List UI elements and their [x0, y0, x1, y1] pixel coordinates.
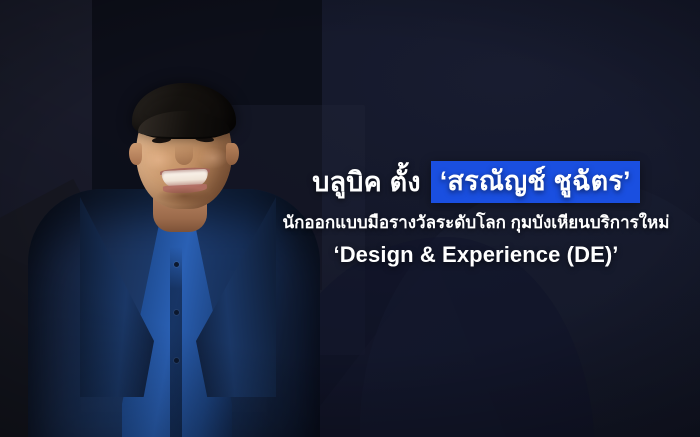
headline-line-1-prefix: บลูบิค ตั้ง — [312, 160, 421, 204]
headline-highlight-name: ‘สรณัญช์ ชูฉัตร’ — [431, 161, 640, 203]
headline-line-2: นักออกแบบมือรางวัลระดับโลก กุมบังเหียนบร… — [270, 210, 682, 236]
headline-line-1: บลูบิค ตั้ง ‘สรณัญช์ ชูฉัตร’ — [270, 160, 682, 204]
headline-line-3: ‘Design & Experience (DE)’ — [270, 240, 682, 270]
announcement-banner: บลูบิค ตั้ง ‘สรณัญช์ ชูฉัตร’ นักออกแบบมื… — [0, 0, 700, 437]
headline-block: บลูบิค ตั้ง ‘สรณัญช์ ชูฉัตร’ นักออกแบบมื… — [270, 160, 682, 270]
